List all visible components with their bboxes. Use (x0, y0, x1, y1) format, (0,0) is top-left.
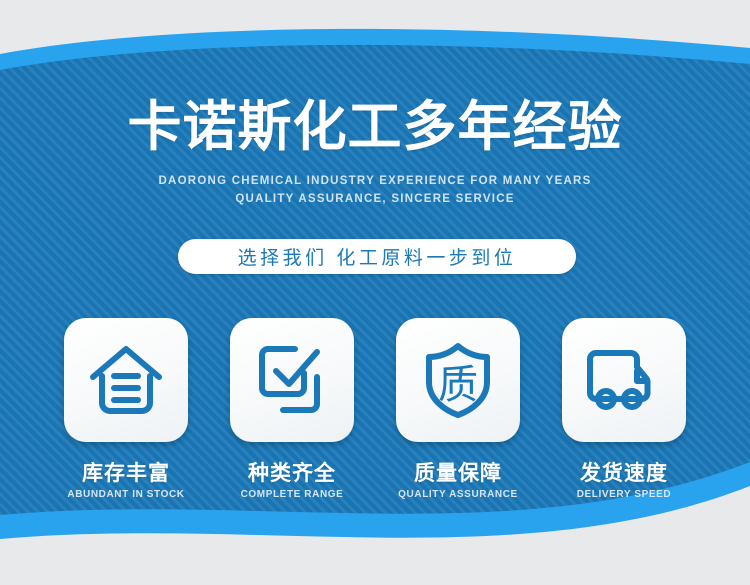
slogan-pill: 选择我们 化工原料一步到位 (178, 239, 576, 274)
feature-icon-card (64, 318, 188, 442)
feature-icon-card (562, 318, 686, 442)
delivery-truck-icon (584, 347, 664, 413)
feature-label-cn: 库存丰富 (64, 462, 188, 485)
subtitle-line-1: DAORONG CHEMICAL INDUSTRY EXPERIENCE FOR… (0, 173, 750, 191)
feature-label-en: DELIVERY SPEED (562, 489, 686, 500)
feature-icon-card (230, 318, 354, 442)
feature-item-range: 种类齐全 COMPLETE RANGE (230, 318, 354, 500)
feature-label-en: QUALITY ASSURANCE (396, 489, 520, 500)
checkbox-stack-icon (255, 342, 329, 418)
feature-item-quality: 质 质量保障 QUALITY ASSURANCE (396, 318, 520, 500)
subtitle-english: DAORONG CHEMICAL INDUSTRY EXPERIENCE FOR… (0, 173, 750, 209)
features-row: 库存丰富 ABUNDANT IN STOCK 种类齐全 COMPLETE RAN… (0, 318, 750, 500)
feature-icon-card: 质 (396, 318, 520, 442)
feature-item-stock: 库存丰富 ABUNDANT IN STOCK (64, 318, 188, 500)
warehouse-icon (88, 343, 164, 417)
feature-label-en: COMPLETE RANGE (230, 489, 354, 500)
title-block: 卡诺斯化工多年经验 DAORONG CHEMICAL INDUSTRY EXPE… (0, 98, 750, 209)
feature-label-cn: 种类齐全 (230, 462, 354, 485)
feature-item-delivery: 发货速度 DELIVERY SPEED (562, 318, 686, 500)
feature-label-cn: 发货速度 (562, 462, 686, 485)
subtitle-line-2: QUALITY ASSURANCE, SINCERE SERVICE (0, 191, 750, 209)
slogan-pill-text: 选择我们 化工原料一步到位 (238, 243, 517, 270)
shield-quality-icon: 质 (422, 341, 494, 419)
feature-label-cn: 质量保障 (396, 462, 520, 485)
shield-character: 质 (438, 363, 478, 407)
feature-label-en: ABUNDANT IN STOCK (64, 489, 188, 500)
promo-banner: 卡诺斯化工多年经验 DAORONG CHEMICAL INDUSTRY EXPE… (0, 0, 750, 585)
page-title: 卡诺斯化工多年经验 (0, 98, 750, 157)
